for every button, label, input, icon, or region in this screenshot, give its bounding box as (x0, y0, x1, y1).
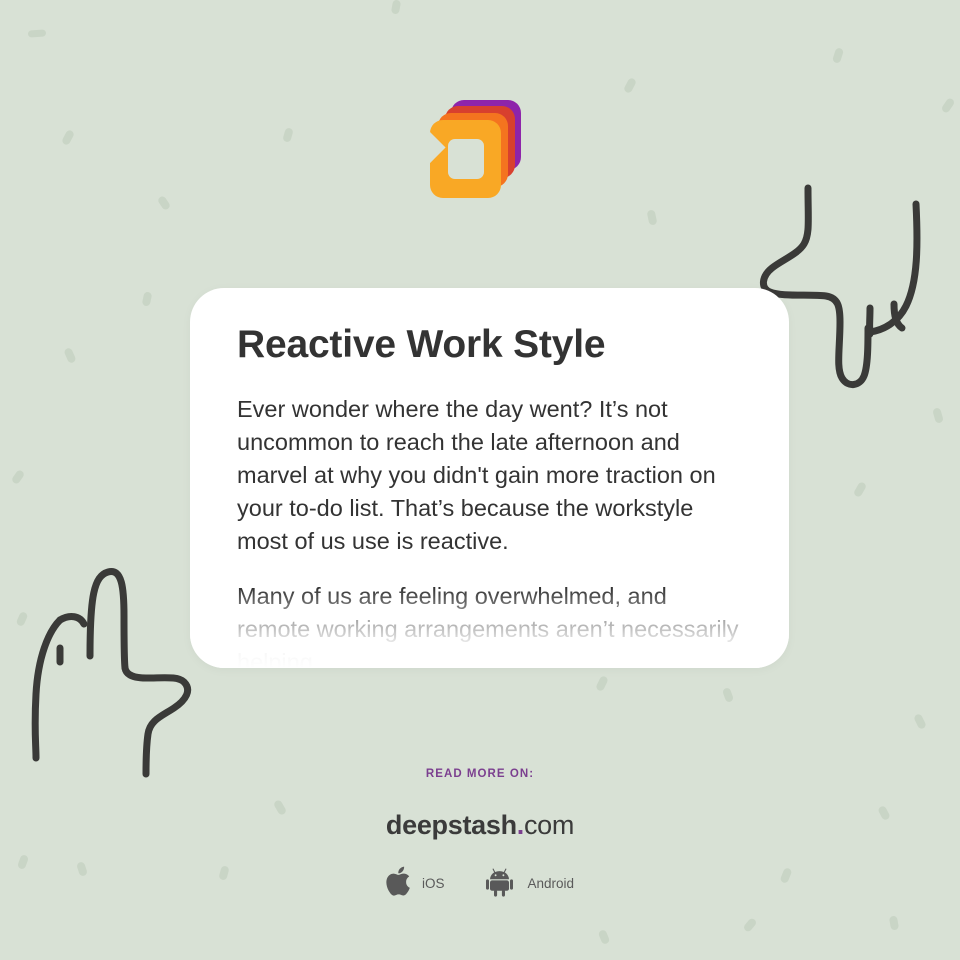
page-title: Reactive Work Style (237, 324, 743, 367)
confetti-dash (623, 77, 637, 94)
brand-name: deepstash (386, 810, 517, 840)
android-icon (486, 865, 518, 902)
card-body: Ever wonder where the day went? It’s not… (237, 393, 743, 668)
confetti-dash (889, 915, 899, 930)
brand-tld: com (524, 810, 574, 840)
read-more-label: READ MORE ON: (0, 768, 960, 780)
confetti-dash (11, 469, 26, 485)
confetti-dash (157, 195, 171, 211)
confetti-dash (722, 687, 734, 703)
confetti-dash (598, 929, 611, 945)
confetti-dash (63, 347, 76, 364)
confetti-dash (15, 611, 28, 627)
confetti-dash (913, 713, 927, 730)
brand-dot: . (517, 810, 524, 840)
content-card: Reactive Work Style Ever wonder where th… (190, 288, 789, 668)
confetti-dash (282, 127, 294, 143)
logo-cutout (448, 139, 484, 179)
logo-layer-amber (430, 120, 501, 198)
confetti-dash (647, 209, 658, 225)
confetti-dash (61, 129, 75, 146)
paragraph-1: Ever wonder where the day went? It’s not… (237, 393, 743, 558)
logo-notch (414, 132, 445, 163)
confetti-dash (940, 97, 955, 114)
store-badges: iOS Android (0, 865, 960, 902)
confetti-dash (595, 675, 609, 692)
confetti-dash (28, 29, 46, 37)
deepstash-logo (425, 100, 525, 204)
confetti-dash (853, 481, 867, 498)
store-label-ios: iOS (422, 876, 445, 891)
card-content: Reactive Work Style Ever wonder where th… (190, 288, 789, 668)
confetti-dash (391, 0, 401, 15)
hand-line-art-left (18, 558, 218, 793)
paragraph-2: Many of us are feeling overwhelmed, and … (237, 580, 743, 668)
store-badge-android[interactable]: Android (486, 865, 574, 902)
confetti-dash (932, 407, 944, 424)
confetti-dash (832, 47, 844, 64)
store-badge-ios[interactable]: iOS (386, 865, 445, 902)
store-label-android: Android (527, 876, 574, 891)
confetti-dash (142, 291, 153, 306)
share-card-canvas: Reactive Work Style Ever wonder where th… (0, 0, 960, 960)
footer: READ MORE ON: deepstash.com iOS (0, 768, 960, 902)
apple-icon (386, 865, 413, 902)
confetti-dash (742, 917, 757, 933)
brand-wordmark[interactable]: deepstash.com (0, 810, 960, 841)
